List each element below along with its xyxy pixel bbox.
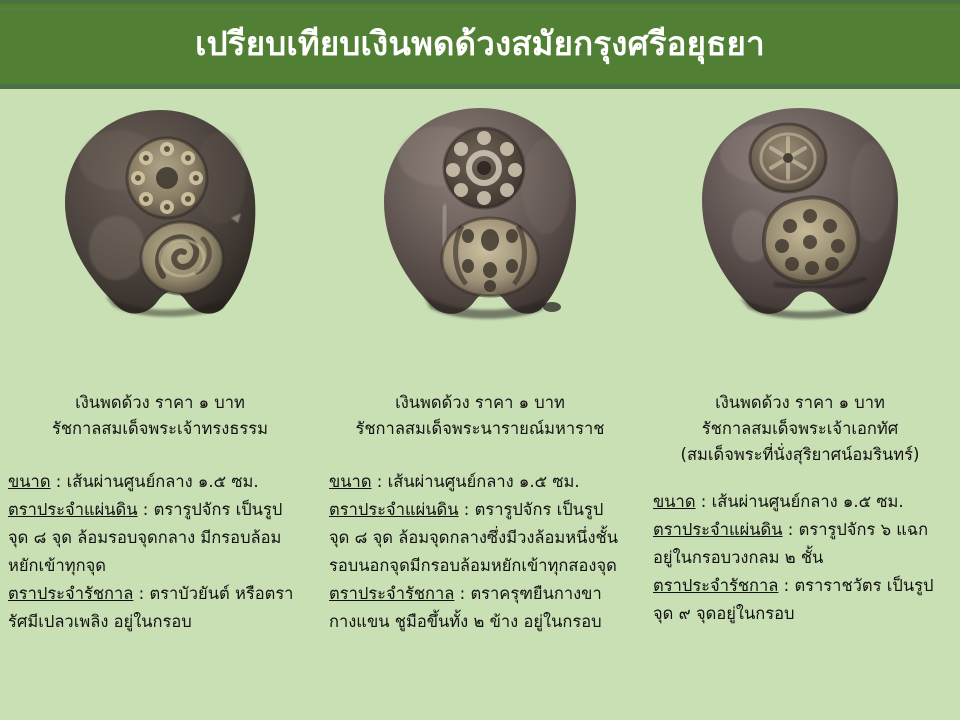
detail-reign-seal-sep: :	[133, 584, 149, 603]
column-details-1: ขนาด : เส้นผ่านศูนย์กลาง ๑.๕ ซม. ตราประจ…	[8, 464, 294, 636]
coin-image-3-wrap	[640, 96, 960, 388]
detail-state-seal-sep: :	[783, 520, 799, 539]
page-title: เปรียบเทียบเงินพดด้วงสมัยกรุงศรีอยุธยา	[195, 26, 765, 62]
heading-line-alt-name: (สมเด็จพระที่นั่งสุริยาศน์อมรินทร์)	[650, 442, 950, 468]
chakra-stamp	[444, 128, 524, 208]
detail-state-seal-sep: :	[459, 500, 475, 519]
detail-reign-seal-label: ตราประจำรัชกาล	[329, 584, 454, 603]
detail-reign-seal-sep: :	[778, 576, 794, 595]
detail-size-label: ขนาด	[8, 472, 51, 491]
reign-stamp	[141, 222, 223, 294]
chakra-stamp	[750, 124, 826, 192]
detail-reign-seal: ตราประจำรัชกาล : ตราครุฑยืนกางขากางแขน ช…	[329, 580, 621, 636]
column-details-3: ขนาด : เส้นผ่านศูนย์กลาง ๑.๕ ซม. ตราประจ…	[653, 484, 939, 628]
detail-size-label: ขนาด	[329, 472, 372, 491]
detail-state-seal: ตราประจำแผ่นดิน : ตรารูปจักร เป็นรูปจุด …	[329, 496, 621, 580]
chakra-stamp	[127, 138, 207, 218]
detail-reign-seal-label: ตราประจำรัชกาล	[653, 576, 778, 595]
detail-size: ขนาด : เส้นผ่านศูนย์กลาง ๑.๕ ซม.	[329, 468, 621, 496]
detail-size-sep: :	[372, 472, 388, 491]
heading-line-reign: รัชกาลสมเด็จพระเจ้าเอกทัศ	[650, 416, 950, 442]
detail-size-value: เส้นผ่านศูนย์กลาง ๑.๕ ซม.	[67, 472, 259, 491]
coin-image-ekkathat	[682, 100, 918, 330]
detail-state-seal: ตราประจำแผ่นดิน : ตรารูปจักร ๖ แฉก อยู่ใ…	[653, 516, 939, 572]
detail-state-seal-sep: :	[138, 500, 154, 519]
detail-size-value: เส้นผ่านศูนย์กลาง ๑.๕ ซม.	[388, 472, 580, 491]
detail-size-sep: :	[696, 492, 712, 511]
rachawat-stamp	[764, 197, 858, 282]
coin-image-songtham	[45, 100, 275, 330]
coin-column-1: เงินพดด้วง ราคา ๑ บาท รัชกาลสมเด็จพระเจ้…	[0, 96, 320, 720]
detail-state-seal-label: ตราประจำแผ่นดิน	[653, 520, 783, 539]
coin-image-2-wrap	[320, 96, 640, 388]
garuda-stamp	[442, 218, 538, 296]
detail-state-seal-label: ตราประจำแผ่นดิน	[329, 500, 459, 519]
heading-line-reign: รัชกาลสมเด็จพระนารายณ์มหาราช	[330, 416, 630, 442]
detail-size: ขนาด : เส้นผ่านศูนย์กลาง ๑.๕ ซม.	[653, 488, 939, 516]
detail-reign-seal-label: ตราประจำรัชกาล	[8, 584, 133, 603]
detail-state-seal-label: ตราประจำแผ่นดิน	[8, 500, 138, 519]
heading-line-denomination: เงินพดด้วง ราคา ๑ บาท	[650, 390, 950, 416]
heading-line-denomination: เงินพดด้วง ราคา ๑ บาท	[330, 390, 630, 416]
detail-size-label: ขนาด	[653, 492, 696, 511]
detail-reign-seal: ตราประจำรัชกาล : ตราราชวัตร เป็นรูปจุด ๙…	[653, 572, 939, 628]
header-banner: เปรียบเทียบเงินพดด้วงสมัยกรุงศรีอยุธยา	[0, 0, 960, 89]
coin-column-3: เงินพดด้วง ราคา ๑ บาท รัชกาลสมเด็จพระเจ้…	[640, 96, 960, 720]
detail-reign-seal-sep: :	[454, 584, 470, 603]
comparison-columns: เงินพดด้วง ราคา ๑ บาท รัชกาลสมเด็จพระเจ้…	[0, 96, 960, 720]
detail-size-value: เส้นผ่านศูนย์กลาง ๑.๕ ซม.	[712, 492, 904, 511]
column-heading-3: เงินพดด้วง ราคา ๑ บาท รัชกาลสมเด็จพระเจ้…	[650, 390, 950, 468]
heading-line-denomination: เงินพดด้วง ราคา ๑ บาท	[10, 390, 310, 416]
column-heading-1: เงินพดด้วง ราคา ๑ บาท รัชกาลสมเด็จพระเจ้…	[10, 390, 310, 442]
detail-state-seal: ตราประจำแผ่นดิน : ตรารูปจักร เป็นรูปจุด …	[8, 496, 294, 580]
detail-reign-seal: ตราประจำรัชกาล : ตราบัวยันต์ หรือตรารัศม…	[8, 580, 294, 636]
page-root: เปรียบเทียบเงินพดด้วงสมัยกรุงศรีอยุธยา	[0, 0, 960, 720]
detail-size: ขนาด : เส้นผ่านศูนย์กลาง ๑.๕ ซม.	[8, 468, 294, 496]
detail-size-sep: :	[51, 472, 67, 491]
coin-image-narai	[362, 100, 598, 330]
coin-column-2: เงินพดด้วง ราคา ๑ บาท รัชกาลสมเด็จพระนาร…	[320, 96, 640, 720]
column-heading-2: เงินพดด้วง ราคา ๑ บาท รัชกาลสมเด็จพระนาร…	[330, 390, 630, 442]
coin-image-1-wrap	[0, 96, 320, 388]
column-details-2: ขนาด : เส้นผ่านศูนย์กลาง ๑.๕ ซม. ตราประจ…	[329, 464, 621, 636]
heading-line-reign: รัชกาลสมเด็จพระเจ้าทรงธรรม	[10, 416, 310, 442]
